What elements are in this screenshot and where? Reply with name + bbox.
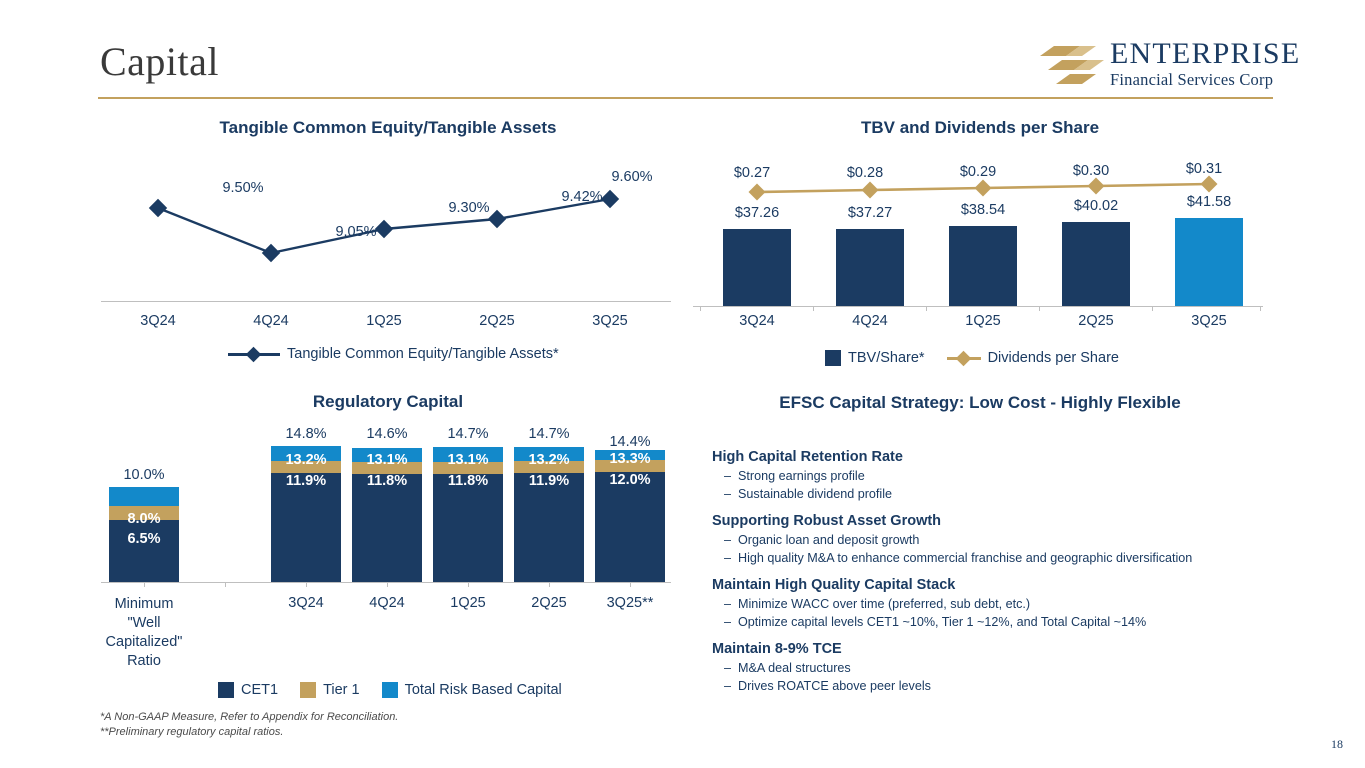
regcap-axis-tick — [630, 582, 631, 587]
regcap-category-label: 4Q24 — [347, 595, 427, 611]
dash-icon: – — [724, 659, 731, 677]
regcap-tier1-label: 13.2% — [271, 452, 341, 468]
strategy-bullet: –Organic loan and deposit growth — [712, 531, 1257, 549]
legend-label: Dividends per Share — [988, 350, 1119, 366]
regcap-total-label: 14.7% — [509, 426, 589, 442]
company-logo: ENTERPRISE Financial Services Corp — [1040, 38, 1276, 94]
legend-item-total-risk-based[interactable]: Total Risk Based Capital — [382, 682, 562, 698]
segment-cet1 — [352, 474, 422, 582]
regcap-category-label: 3Q25** — [590, 595, 670, 611]
logo-line-1: ENTERPRISE — [1110, 38, 1278, 70]
regcap-axis-tick — [225, 582, 226, 587]
regcap-category-line: Minimum — [104, 595, 184, 614]
tbv-axis-tick — [926, 306, 927, 311]
regcap-total-label: 14.4% — [590, 434, 670, 450]
strategy-heading: Maintain 8-9% TCE — [712, 640, 1257, 659]
dash-icon: – — [724, 613, 731, 631]
regcap-category-label: 1Q25 — [428, 595, 508, 611]
tbv-category-label: 1Q25 — [943, 313, 1023, 329]
strategy-bullet-text: Sustainable dividend profile — [738, 487, 892, 501]
strategy-list: High Capital Retention Rate –Strong earn… — [712, 448, 1257, 704]
tce-category-label: 3Q25 — [570, 313, 650, 329]
regcap-cet1-label: 11.9% — [271, 473, 341, 489]
regcap-total-label: 14.7% — [428, 426, 508, 442]
page-number: 18 — [1331, 737, 1343, 752]
regcap-axis-tick — [468, 582, 469, 587]
strategy-bullet: –Minimize WACC over time (preferred, sub… — [712, 595, 1257, 613]
regcap-legend: CET1 Tier 1 Total Risk Based Capital — [218, 682, 562, 698]
strategy-bullet: –High quality M&A to enhance commercial … — [712, 549, 1257, 567]
slide-root: Capital ENTERPRISE Financial Services Co… — [0, 0, 1365, 768]
tce-legend: Tangible Common Equity/Tangible Assets* — [228, 346, 559, 362]
chart-regulatory-capital: Regulatory Capital 10.0% 14.8% 14.6% 14.… — [98, 392, 678, 712]
swatch-icon — [825, 350, 841, 366]
page-title: Capital — [100, 38, 219, 85]
tce-x-axis — [101, 301, 671, 302]
dash-icon: – — [724, 467, 731, 485]
regcap-category-line: "Well — [104, 614, 184, 633]
footnotes: *A Non-GAAP Measure, Refer to Appendix f… — [100, 710, 398, 740]
strategy-group: Supporting Robust Asset Growth –Organic … — [712, 512, 1257, 567]
legend-item-cet1[interactable]: CET1 — [218, 682, 278, 698]
strategy-bullet: –Sustainable dividend profile — [712, 485, 1257, 503]
tce-line-series — [98, 118, 678, 318]
strategy-bullet-text: Minimize WACC over time (preferred, sub … — [738, 597, 1030, 611]
strategy-bullet: –Drives ROATCE above peer levels — [712, 677, 1257, 695]
strategy-heading: Maintain High Quality Capital Stack — [712, 576, 1257, 595]
tbv-legend: TBV/Share* Dividends per Share — [825, 350, 1119, 366]
regcap-axis-tick — [144, 582, 145, 587]
legend-label: CET1 — [241, 682, 278, 698]
regcap-category-label: 2Q25 — [509, 595, 589, 611]
strategy-group: Maintain 8-9% TCE –M&A deal structures –… — [712, 640, 1257, 695]
regcap-cet1-label: 11.8% — [433, 473, 503, 489]
regcap-tier1-label: 13.1% — [352, 452, 422, 468]
strategy-bullet-text: Strong earnings profile — [738, 469, 865, 483]
tbv-axis-tick — [813, 306, 814, 311]
regcap-category-label: 3Q24 — [266, 595, 346, 611]
segment-cet1 — [595, 472, 665, 582]
strategy-bullet: –Strong earnings profile — [712, 467, 1257, 485]
header-divider — [98, 97, 1273, 99]
line-marker-icon — [228, 348, 280, 360]
dash-icon: – — [724, 549, 731, 567]
regcap-axis-tick — [387, 582, 388, 587]
regcap-total-label: 14.8% — [266, 426, 346, 442]
regcap-stack-bar[interactable] — [595, 450, 665, 582]
tbv-axis-tick — [1260, 306, 1261, 311]
strategy-bullet-text: Organic loan and deposit growth — [738, 533, 919, 547]
segment-cet1 — [109, 520, 179, 582]
swatch-icon — [300, 682, 316, 698]
regcap-tier1-label: 13.2% — [514, 452, 584, 468]
legend-item-tce[interactable]: Tangible Common Equity/Tangible Assets* — [228, 346, 559, 362]
segment-cet1 — [271, 473, 341, 582]
logo-mark-icon — [1040, 42, 1104, 86]
footnote-line: **Preliminary regulatory capital ratios. — [100, 725, 398, 740]
dash-icon: – — [724, 595, 731, 613]
tce-category-label: 2Q25 — [457, 313, 537, 329]
strategy-bullet-text: Optimize capital levels CET1 ~10%, Tier … — [738, 615, 1146, 629]
regcap-axis-tick — [549, 582, 550, 587]
regcap-stack-bar[interactable] — [352, 448, 422, 582]
regcap-axis-tick — [306, 582, 307, 587]
chart-tce: Tangible Common Equity/Tangible Assets 9… — [98, 118, 678, 373]
legend-label: TBV/Share* — [848, 350, 925, 366]
tce-category-label: 4Q24 — [231, 313, 311, 329]
strategy-bullet-text: M&A deal structures — [738, 661, 851, 675]
regcap-category-label: Minimum "Well Capitalized" Ratio — [104, 595, 184, 671]
strategy-title: EFSC Capital Strategy: Low Cost - Highly… — [690, 393, 1270, 413]
segment-total-risk-based — [109, 487, 179, 506]
tbv-x-axis — [693, 306, 1263, 307]
strategy-heading: High Capital Retention Rate — [712, 448, 1257, 467]
tbv-category-label: 3Q25 — [1169, 313, 1249, 329]
legend-item-dividends[interactable]: Dividends per Share — [947, 350, 1119, 366]
regcap-tier1-label: 13.1% — [433, 452, 503, 468]
dash-icon: – — [724, 677, 731, 695]
logo-text: ENTERPRISE Financial Services Corp — [1110, 38, 1278, 89]
swatch-icon — [382, 682, 398, 698]
regcap-total-label: 14.6% — [347, 426, 427, 442]
tce-category-label: 3Q24 — [118, 313, 198, 329]
chart-tbv: TBV and Dividends per Share $0.27 $0.28 … — [690, 118, 1270, 373]
tbv-axis-tick — [1152, 306, 1153, 311]
regcap-cet1-label: 11.9% — [514, 473, 584, 489]
dash-icon: – — [724, 531, 731, 549]
strategy-group: Maintain High Quality Capital Stack –Min… — [712, 576, 1257, 631]
segment-cet1 — [514, 473, 584, 582]
tce-category-label: 1Q25 — [344, 313, 424, 329]
regcap-cet1-label: 11.8% — [352, 473, 422, 489]
logo-line-2: Financial Services Corp — [1110, 70, 1278, 89]
segment-cet1 — [433, 474, 503, 582]
strategy-bullet-text: High quality M&A to enhance commercial f… — [738, 551, 1192, 565]
tbv-category-label: 4Q24 — [830, 313, 910, 329]
line-marker-icon — [947, 352, 981, 364]
dash-icon: – — [724, 485, 731, 503]
legend-label: Tangible Common Equity/Tangible Assets* — [287, 346, 559, 362]
regcap-total-label: 10.0% — [104, 467, 184, 483]
legend-item-tier1[interactable]: Tier 1 — [300, 682, 360, 698]
swatch-icon — [218, 682, 234, 698]
tbv-axis-tick — [1039, 306, 1040, 311]
strategy-heading: Supporting Robust Asset Growth — [712, 512, 1257, 531]
legend-item-tbv-share[interactable]: TBV/Share* — [825, 350, 925, 366]
tbv-axis-tick — [700, 306, 701, 311]
tbv-category-label: 2Q25 — [1056, 313, 1136, 329]
chart-regcap-title: Regulatory Capital — [98, 392, 678, 412]
strategy-bullet: –Optimize capital levels CET1 ~10%, Tier… — [712, 613, 1257, 631]
strategy-bullet: –M&A deal structures — [712, 659, 1257, 677]
legend-label: Tier 1 — [323, 682, 360, 698]
regcap-cet1-label: 12.0% — [595, 472, 665, 488]
regcap-cet1-label: 6.5% — [109, 531, 179, 547]
regcap-tier1-label: 13.3% — [595, 451, 665, 467]
strategy-group: High Capital Retention Rate –Strong earn… — [712, 448, 1257, 503]
regcap-category-line: Ratio — [104, 652, 184, 671]
footnote-line: *A Non-GAAP Measure, Refer to Appendix f… — [100, 710, 398, 725]
regcap-category-line: Capitalized" — [104, 633, 184, 652]
strategy-bullet-text: Drives ROATCE above peer levels — [738, 679, 931, 693]
dividend-line-series — [690, 118, 1270, 318]
regcap-tier1-label: 8.0% — [109, 511, 179, 527]
tbv-category-label: 3Q24 — [717, 313, 797, 329]
legend-label: Total Risk Based Capital — [405, 682, 562, 698]
regcap-x-axis — [101, 582, 671, 583]
